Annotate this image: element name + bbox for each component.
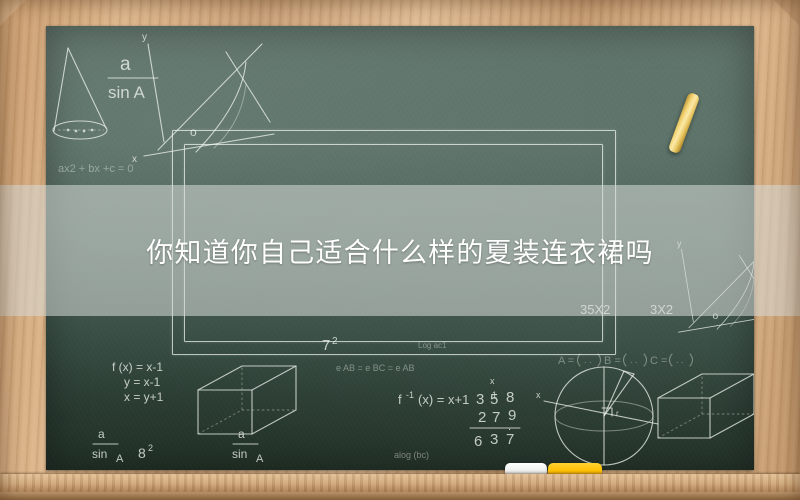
svg-text:8: 8 [506, 389, 514, 406]
svg-text:8: 8 [138, 445, 146, 461]
svg-text:a: a [98, 427, 105, 441]
svg-text:f (x) = x-1: f (x) = x-1 [112, 360, 163, 374]
cone-sketch [53, 48, 107, 139]
svg-text:sin: sin [92, 447, 107, 461]
svg-text:y: y [677, 238, 682, 248]
inverse-function-equation: f -1 (x) = x+1 [398, 390, 469, 407]
svg-text:x: x [536, 390, 541, 400]
matrix-expression: A = . . B = . . C = . . [558, 354, 693, 367]
svg-text:y = x-1: y = x-1 [124, 375, 161, 389]
svg-text:2: 2 [478, 409, 486, 426]
svg-text:. .: . . [676, 355, 684, 365]
chalkboard-banner: a sin A y x o ax2 + bx +c = 0 y [0, 0, 800, 500]
chalkboard: a sin A y x o ax2 + bx +c = 0 y [46, 26, 754, 470]
svg-text:a: a [238, 427, 245, 441]
chalk-ledge-lip [0, 492, 800, 500]
svg-text:B =: B = [604, 355, 621, 367]
svg-text:A: A [116, 453, 124, 465]
svg-text:A =: A = [558, 355, 574, 367]
svg-text:-1: -1 [406, 390, 414, 400]
svg-text:A: A [256, 453, 264, 465]
svg-text:(x) = x+1: (x) = x+1 [418, 392, 469, 407]
svg-text:y: y [142, 32, 147, 43]
sphere-diagram: x r [536, 367, 658, 465]
svg-text:x = y+1: x = y+1 [124, 390, 164, 404]
svg-text:x: x [490, 376, 495, 386]
svg-text:o: o [713, 311, 719, 322]
fraction-a-over-sina-lower-2: a sin A [232, 427, 264, 465]
function-equations: f (x) = x-1 y = x-1 x = y+1 [112, 360, 164, 404]
svg-text:. .: . . [584, 355, 592, 365]
svg-text:r: r [616, 409, 619, 418]
svg-text:6: 6 [474, 433, 482, 450]
svg-text:. .: . . [630, 355, 638, 365]
svg-text:a: a [120, 54, 131, 75]
svg-text:7: 7 [506, 431, 514, 448]
cube-sketch-left [198, 366, 296, 434]
svg-text:f: f [398, 392, 402, 407]
chalk-rectangle-inner [184, 144, 603, 342]
angle-diagram-top-right: y o [677, 238, 754, 332]
label-3x2: 3X2 [650, 302, 673, 317]
fraction-a-over-sina-lower-1: a sin A [92, 427, 124, 465]
cube-sketch-right [658, 374, 754, 438]
svg-text:sin A: sin A [108, 83, 146, 102]
svg-text:3: 3 [490, 431, 498, 448]
quadratic-equation: ax2 + bx +c = 0 [58, 163, 134, 175]
log-expression-alog: alog (bc) [394, 450, 429, 460]
segment-equality: e AB = e BC = e AB [336, 363, 415, 373]
svg-text:3: 3 [476, 391, 484, 408]
power-eight-squared: 8 2 [138, 443, 153, 461]
svg-text:C =: C = [650, 355, 667, 367]
svg-text:7: 7 [492, 409, 500, 426]
svg-text:5: 5 [490, 391, 498, 408]
column-addition: x 1 3 5 8 2 7 9 . 6 3 7 [470, 376, 520, 450]
svg-text:sin: sin [232, 447, 247, 461]
svg-text:2: 2 [148, 443, 153, 453]
